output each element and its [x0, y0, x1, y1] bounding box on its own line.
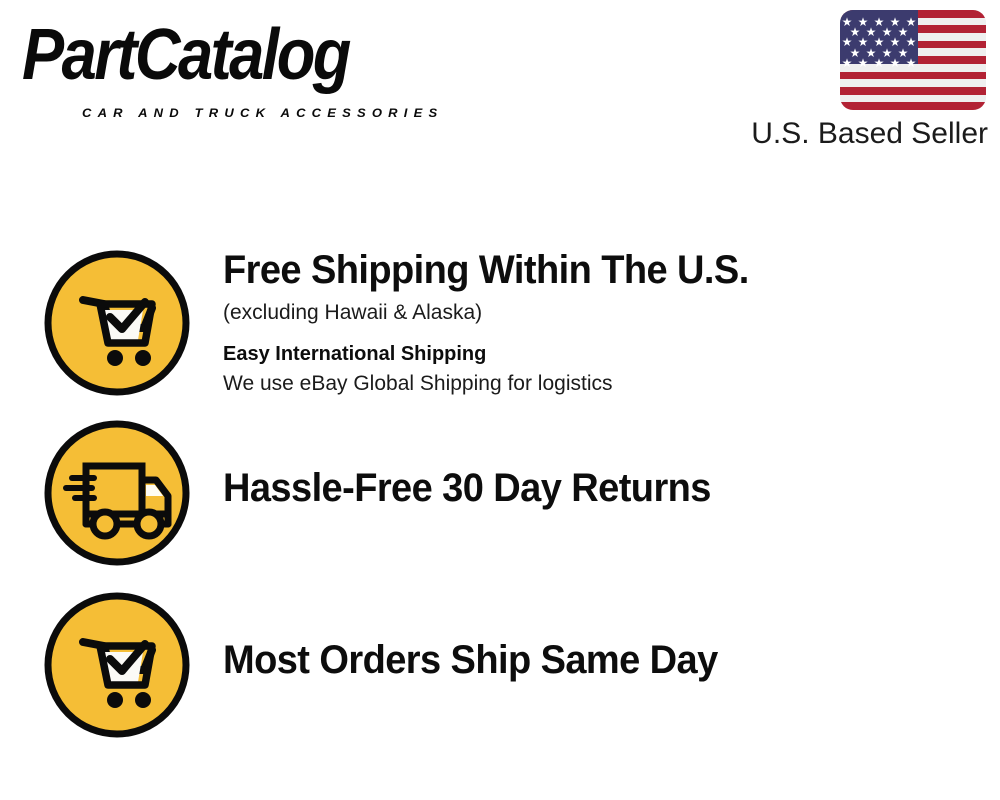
flag-star: ★	[889, 57, 901, 69]
shopping-cart-check-icon	[42, 248, 192, 398]
flag-star: ★	[873, 57, 885, 69]
brand-wordmark: PartCatalog	[22, 20, 501, 92]
benefit-text: Free Shipping Within The U.S. (excluding…	[223, 248, 776, 398]
benefit-row: Hassle-Free 30 Day Returns	[0, 418, 1000, 568]
flag-star: ★	[841, 57, 853, 69]
brand-logo[interactable]: PartCatalog CAR AND TRUCK ACCESSORIES	[22, 20, 492, 115]
shopping-cart-check-icon	[42, 590, 192, 740]
benefit-text: Most Orders Ship Same Day	[223, 590, 744, 683]
flag-star: ★	[857, 57, 869, 69]
us-flag-graphic: ★★★★★★★★★★★★★★★★★★★★★★★	[840, 10, 986, 110]
seller-note: U.S. Based Seller	[751, 117, 988, 151]
benefit-title: Hassle-Free 30 Day Returns	[223, 466, 711, 511]
benefit-subdetail: We use eBay Global Shipping for logistic…	[223, 369, 776, 398]
flag-star: ★	[905, 57, 917, 69]
flag-canton: ★★★★★★★★★★★★★★★★★★★★★★★	[840, 10, 918, 64]
benefit-title: Free Shipping Within The U.S.	[223, 248, 749, 293]
benefit-title: Most Orders Ship Same Day	[223, 638, 718, 683]
brand-tagline: CAR AND TRUCK ACCESSORIES	[82, 106, 443, 120]
benefit-text: Hassle-Free 30 Day Returns	[223, 418, 737, 511]
us-flag-icon: ★★★★★★★★★★★★★★★★★★★★★★★	[840, 10, 986, 110]
benefit-row: Most Orders Ship Same Day	[0, 590, 1000, 740]
delivery-truck-icon	[42, 418, 192, 568]
page-header: PartCatalog CAR AND TRUCK ACCESSORIES ★★…	[0, 0, 1000, 170]
benefit-row: Free Shipping Within The U.S. (excluding…	[0, 248, 1000, 398]
benefit-subheading: Easy International Shipping	[223, 340, 776, 369]
benefit-subtext: (excluding Hawaii & Alaska)	[223, 297, 776, 328]
